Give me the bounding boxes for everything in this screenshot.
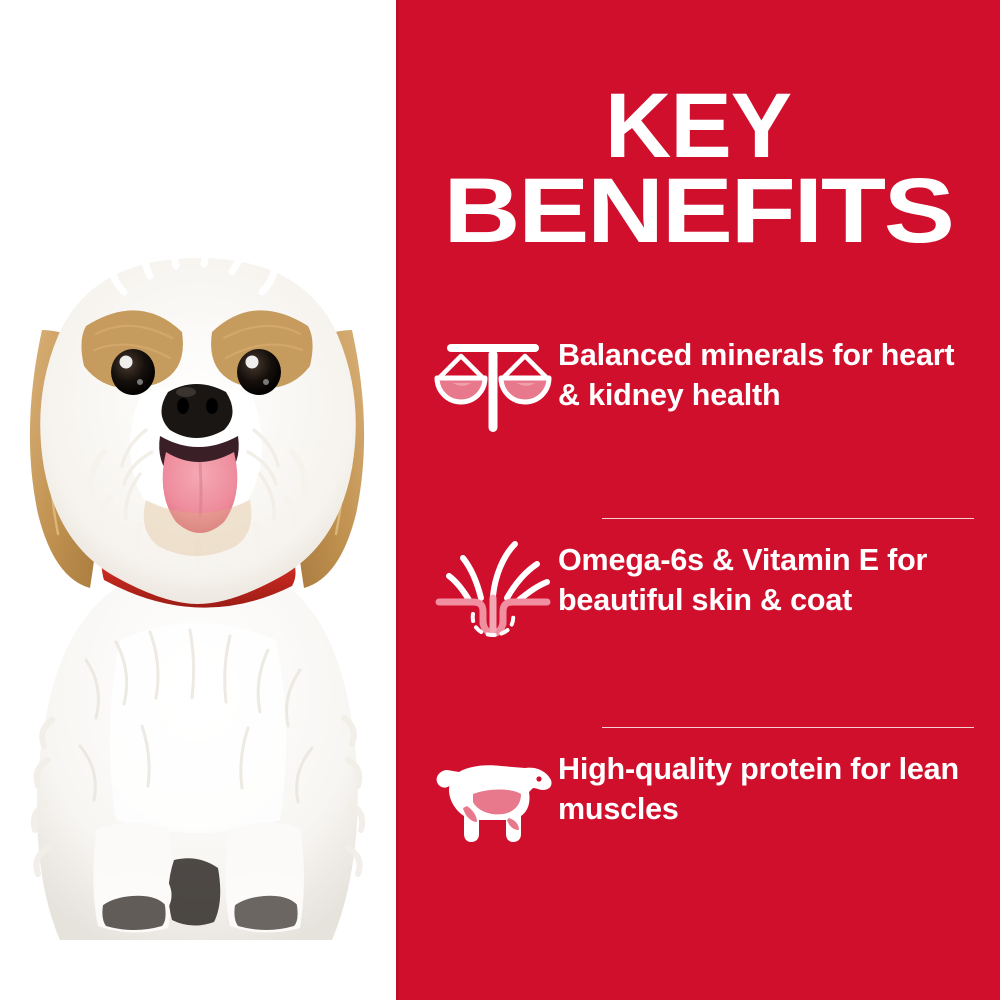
dog-photo-pane [0, 0, 396, 1000]
benefit-text: High-quality protein for lean muscles [558, 744, 974, 829]
benefit-item-omega-vitamin-e: Omega-6s & Vitamin E for beautiful skin … [396, 535, 1000, 715]
title-line-key: KEY [396, 84, 1000, 169]
key-benefits-banner: KEY BENEFITS Bal [0, 0, 1000, 1000]
benefit-text: Balanced minerals for heart & kidney hea… [558, 330, 974, 415]
benefit-divider [602, 727, 974, 728]
benefit-item-high-quality-protein: High-quality protein for lean muscles [396, 744, 1000, 884]
dog-body [34, 560, 362, 940]
benefit-item-balanced-minerals: Balanced minerals for heart & kidney hea… [396, 330, 1000, 506]
title-line-benefits: BENEFITS [348, 169, 1000, 254]
benefit-list: Balanced minerals for heart & kidney hea… [396, 330, 1000, 884]
dog-nose [161, 384, 232, 438]
benefits-panel: KEY BENEFITS Bal [396, 0, 1000, 1000]
dog-head [30, 226, 364, 604]
dog-photo [0, 0, 396, 1000]
dog-muscle-icon [428, 748, 558, 860]
balance-scale-icon [428, 334, 558, 446]
benefit-text: Omega-6s & Vitamin E for beautiful skin … [558, 535, 974, 620]
page-title: KEY BENEFITS [396, 84, 1000, 253]
hair-follicle-icon [428, 539, 558, 651]
benefit-divider [602, 518, 974, 519]
